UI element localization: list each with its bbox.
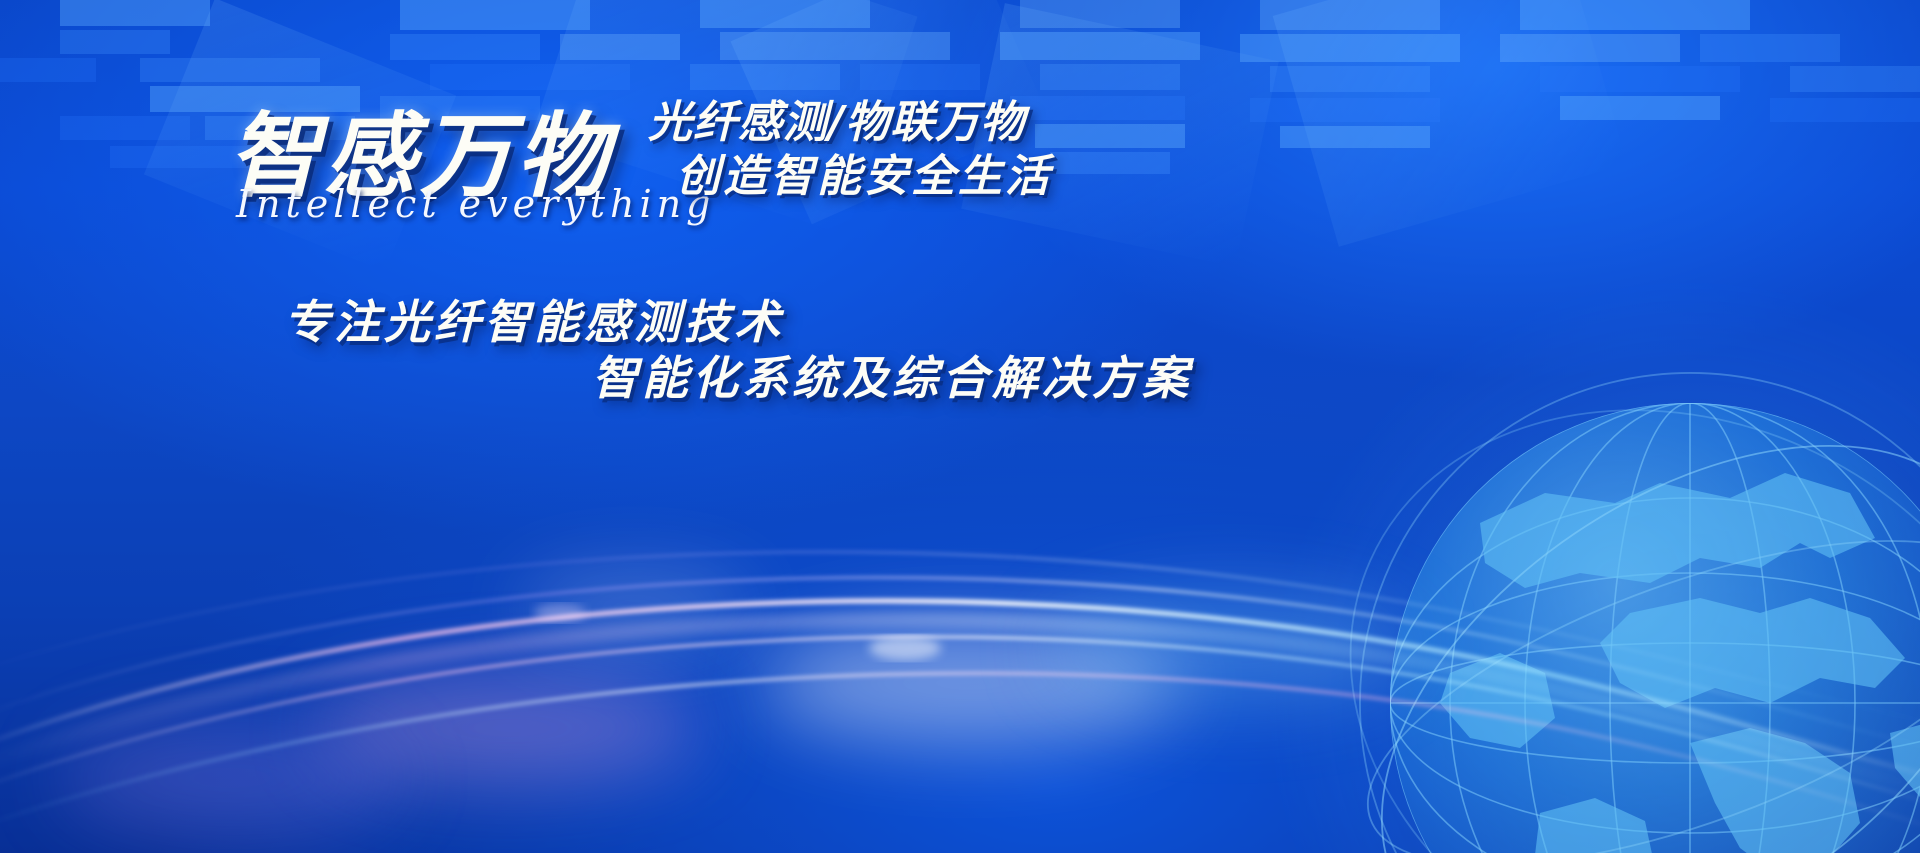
tagline-line-2: 智能化系统及综合解决方案 (592, 342, 1192, 408)
page-subtitle-english: Intellect everything (236, 182, 715, 226)
light-streak-arc (0, 423, 1920, 853)
slogan-line-2: 创造智能安全生活 (676, 140, 1052, 204)
streak-curves (0, 423, 1920, 853)
promo-banner: 智感万物 Intellect everything 光纤感测/物联万物 创造智能… (0, 0, 1920, 853)
